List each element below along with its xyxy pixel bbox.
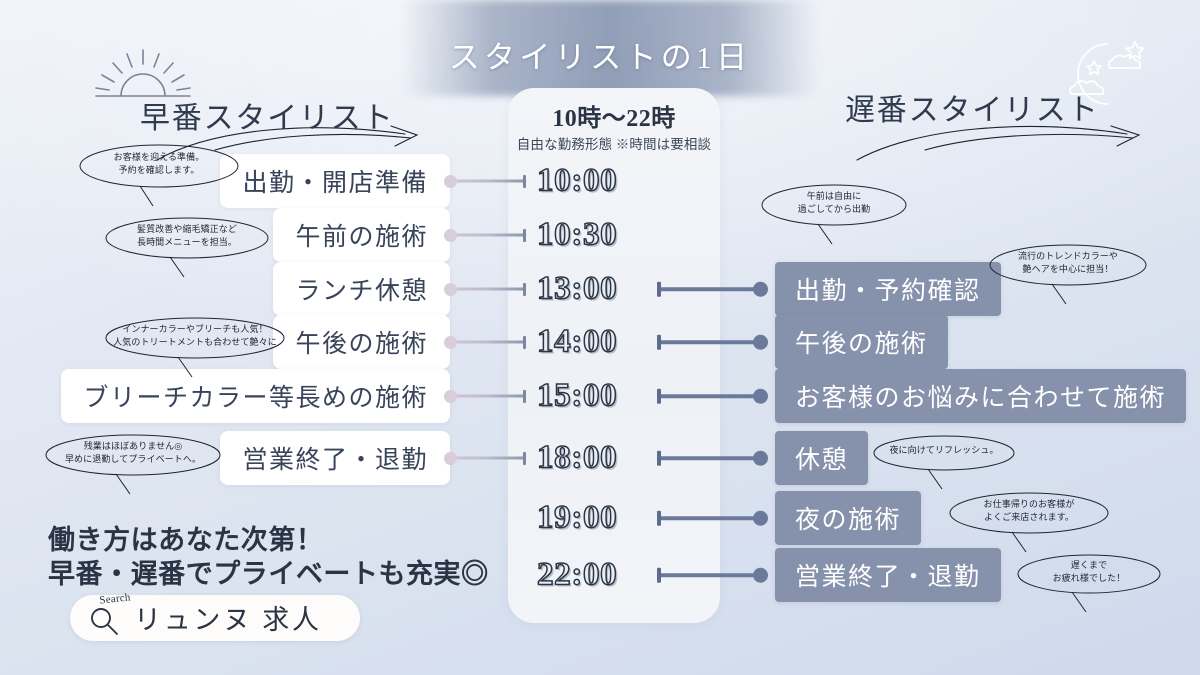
infographic-canvas: スタイリストの1日 bbox=[0, 0, 1200, 675]
late-task-card: 出勤・予約確認 bbox=[775, 262, 1001, 316]
note-text: 流行のトレンドカラーや 艶ヘアを中心に担当！ bbox=[988, 242, 1148, 286]
connector-right bbox=[658, 340, 756, 344]
note-bubble-left: お客様を迎える準備。 予約を確認します。 bbox=[78, 142, 240, 188]
note-bubble-right: 流行のトレンドカラーや 艶ヘアを中心に担当！ bbox=[988, 242, 1148, 286]
late-shift-heading: 遅番スタイリスト bbox=[845, 85, 1099, 129]
connector-left bbox=[455, 180, 525, 183]
connector-dot-left bbox=[444, 229, 457, 242]
early-task-card: 午後の施術 bbox=[273, 315, 450, 369]
business-hours-note: 自由な勤務形態 ※時間は要相談 bbox=[486, 133, 742, 153]
note-text: インナーカラーやブリーチも人気！ 人気のトリートメントも合わせて艶々に bbox=[104, 315, 286, 359]
connector-tick-left bbox=[523, 175, 526, 188]
late-task-card: 午後の施術 bbox=[775, 315, 948, 369]
search-query-text: リュンヌ 求人 bbox=[134, 598, 322, 637]
connector-tick-right bbox=[657, 282, 661, 297]
note-bubble-left: インナーカラーやブリーチも人気！ 人気のトリートメントも合わせて艶々に bbox=[104, 315, 286, 359]
connector-tick-left bbox=[523, 283, 526, 296]
connector-right bbox=[658, 516, 756, 520]
search-icon bbox=[88, 605, 120, 637]
connector-dot-left bbox=[444, 452, 457, 465]
connector-dot-left bbox=[444, 283, 457, 296]
connector-tick-left bbox=[523, 452, 526, 465]
late-task-card: 夜の施術 bbox=[775, 491, 921, 545]
connector-dot-left bbox=[444, 390, 457, 403]
connector-left bbox=[455, 457, 525, 460]
note-bubble-right: 遅くまで お疲れ様でした！ bbox=[1016, 552, 1162, 594]
connector-tick-left bbox=[523, 390, 526, 403]
note-text: 夜に向けてリフレッシュ。 bbox=[872, 434, 1016, 470]
business-hours: 10時〜22時 bbox=[508, 98, 720, 133]
connector-dot-right bbox=[753, 568, 768, 583]
connector-tick-left bbox=[523, 229, 526, 242]
note-text: 遅くまで お疲れ様でした！ bbox=[1016, 552, 1162, 594]
note-text: お仕事帰りのお客様が よくご来店されます。 bbox=[948, 490, 1110, 534]
note-bubble-right: 夜に向けてリフレッシュ。 bbox=[872, 434, 1016, 470]
connector-right bbox=[658, 394, 756, 398]
connector-right bbox=[658, 456, 756, 460]
tagline-line-2: 早番・遅番でプライベートも充実◎ bbox=[48, 552, 489, 591]
time-label: 10:00 bbox=[537, 163, 697, 200]
late-task-card: お客様のお悩みに合わせて施術 bbox=[775, 369, 1186, 423]
connector-left bbox=[455, 341, 525, 344]
early-task-card: 出勤・開店準備 bbox=[220, 154, 450, 208]
note-text: 髪質改善や縮毛矯正など 長時間メニューを担当。 bbox=[104, 215, 270, 259]
time-label: 10:30 bbox=[537, 217, 697, 254]
connector-left bbox=[455, 288, 525, 291]
early-shift-heading: 早番スタイリスト bbox=[140, 93, 394, 137]
note-bubble-right: お仕事帰りのお客様が よくご来店されます。 bbox=[948, 490, 1110, 534]
note-bubble-left: 髪質改善や縮毛矯正など 長時間メニューを担当。 bbox=[104, 215, 270, 259]
connector-left bbox=[455, 234, 525, 237]
connector-dot-right bbox=[753, 451, 768, 466]
early-task-card: 営業終了・退勤 bbox=[220, 431, 450, 485]
note-text: お客様を迎える準備。 予約を確認します。 bbox=[78, 142, 240, 188]
connector-dot-right bbox=[753, 511, 768, 526]
connector-tick-right bbox=[657, 389, 661, 404]
connector-right bbox=[658, 573, 756, 577]
note-bubble-left: 残業はほぼありません◎ 早めに退勤してプライベートへ。 bbox=[44, 432, 222, 476]
connector-left bbox=[455, 395, 525, 398]
connector-dot-right bbox=[753, 335, 768, 350]
early-task-card: 午前の施術 bbox=[273, 208, 450, 262]
note-text: 午前は自由に 過ごしてから出勤 bbox=[760, 182, 908, 226]
early-task-card: ランチ休憩 bbox=[273, 262, 450, 316]
late-task-card: 休憩 bbox=[775, 431, 868, 485]
connector-dot-right bbox=[753, 389, 768, 404]
connector-tick-right bbox=[657, 451, 661, 466]
connector-right bbox=[658, 287, 756, 291]
connector-dot-right bbox=[753, 282, 768, 297]
connector-dot-left bbox=[444, 336, 457, 349]
connector-tick-left bbox=[523, 336, 526, 349]
note-bubble-right: 午前は自由に 過ごしてから出勤 bbox=[760, 182, 908, 226]
connector-tick-right bbox=[657, 335, 661, 350]
connector-tick-right bbox=[657, 511, 661, 526]
note-text: 残業はほぼありません◎ 早めに退勤してプライベートへ。 bbox=[44, 432, 222, 476]
connector-dot-left bbox=[444, 175, 457, 188]
connector-tick-right bbox=[657, 568, 661, 583]
